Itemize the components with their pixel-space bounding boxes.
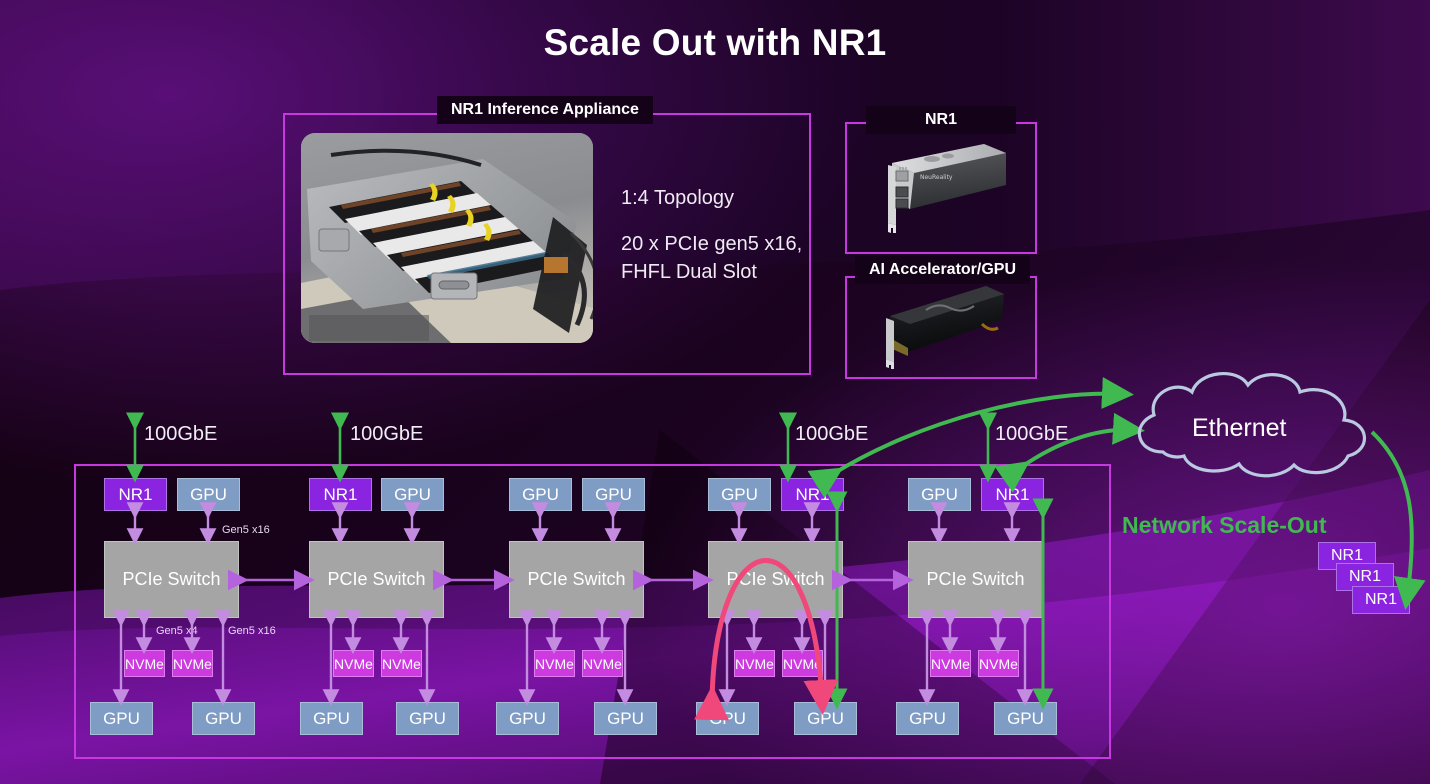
appliance-photo [301,133,593,343]
block-nr1-c4[interactable]: NR1 [781,478,844,511]
block-gpu-c1-bot2[interactable]: GPU [192,702,255,735]
pcie-switch-c5[interactable]: PCIe Switch [908,541,1043,618]
block-gpu-c1-bot1[interactable]: GPU [90,702,153,735]
block-nr1-c1[interactable]: NR1 [104,478,167,511]
block-gpu-c3-bot1[interactable]: GPU [496,702,559,735]
block-gpu-c4-bot2[interactable]: GPU [794,702,857,735]
nr1-card-caption: NR1 [866,106,1016,134]
block-gpu-c5-bot2[interactable]: GPU [994,702,1057,735]
block-gpu-c4-top1[interactable]: GPU [708,478,771,511]
pcie-switch-c3[interactable]: PCIe Switch [509,541,644,618]
block-gpu-c3-top2[interactable]: GPU [582,478,645,511]
block-nvme-c5-1[interactable]: NVMe [930,650,971,677]
appliance-spec-pcie: 20 x PCIe gen5 x16, FHFL Dual Slot [621,230,802,286]
block-nvme-c3-2[interactable]: NVMe [582,650,623,677]
nr1-card-image: NeuReality [866,137,1014,237]
slide-canvas: Scale Out with NR1 NR1 Inference Applian… [0,0,1430,784]
block-gpu-c2-bot2[interactable]: GPU [396,702,459,735]
ai-accelerator-card-image [866,280,1014,370]
block-gpu-c5-top1[interactable]: GPU [908,478,971,511]
scaleout-nr1-3[interactable]: NR1 [1352,586,1410,614]
pcie-switch-c4[interactable]: PCIe Switch [708,541,843,618]
block-gpu-c1-top2[interactable]: GPU [177,478,240,511]
block-gpu-c2-top2[interactable]: GPU [381,478,444,511]
pcie-switch-c2[interactable]: PCIe Switch [309,541,444,618]
uplink-label-2: 100GbE [350,423,423,446]
slide-title: Scale Out with NR1 [0,22,1430,64]
block-nvme-c4-2[interactable]: NVMe [782,650,823,677]
block-gpu-c2-bot1[interactable]: GPU [300,702,363,735]
block-nvme-c5-2[interactable]: NVMe [978,650,1019,677]
block-nvme-c3-1[interactable]: NVMe [534,650,575,677]
network-scale-out-label: Network Scale-Out [1122,512,1327,539]
uplink-label-3: 100GbE [795,423,868,446]
link-label-gen5x16-bottom: Gen5 x16 [228,625,276,637]
block-nvme-c1-1[interactable]: NVMe [124,650,165,677]
block-nvme-c4-1[interactable]: NVMe [734,650,775,677]
block-nr1-c2[interactable]: NR1 [309,478,372,511]
svg-text:NeuReality: NeuReality [920,174,953,181]
uplink-label-4: 100GbE [995,423,1068,446]
appliance-panel-caption: NR1 Inference Appliance [437,96,653,124]
block-gpu-c3-top1[interactable]: GPU [509,478,572,511]
appliance-spec-topology: 1:4 Topology [621,184,734,212]
block-nr1-c5[interactable]: NR1 [981,478,1044,511]
block-nvme-c2-2[interactable]: NVMe [381,650,422,677]
ethernet-cloud-label: Ethernet [1192,414,1287,443]
uplink-label-1: 100GbE [144,423,217,446]
block-nvme-c2-1[interactable]: NVMe [333,650,374,677]
block-gpu-c3-bot2[interactable]: GPU [594,702,657,735]
pcie-switch-c1[interactable]: PCIe Switch [104,541,239,618]
link-label-gen5x4: Gen5 x4 [156,625,198,637]
block-gpu-c4-bot1[interactable]: GPU [696,702,759,735]
link-label-gen5x16-top: Gen5 x16 [222,524,270,536]
block-gpu-c5-bot1[interactable]: GPU [896,702,959,735]
block-nvme-c1-2[interactable]: NVMe [172,650,213,677]
